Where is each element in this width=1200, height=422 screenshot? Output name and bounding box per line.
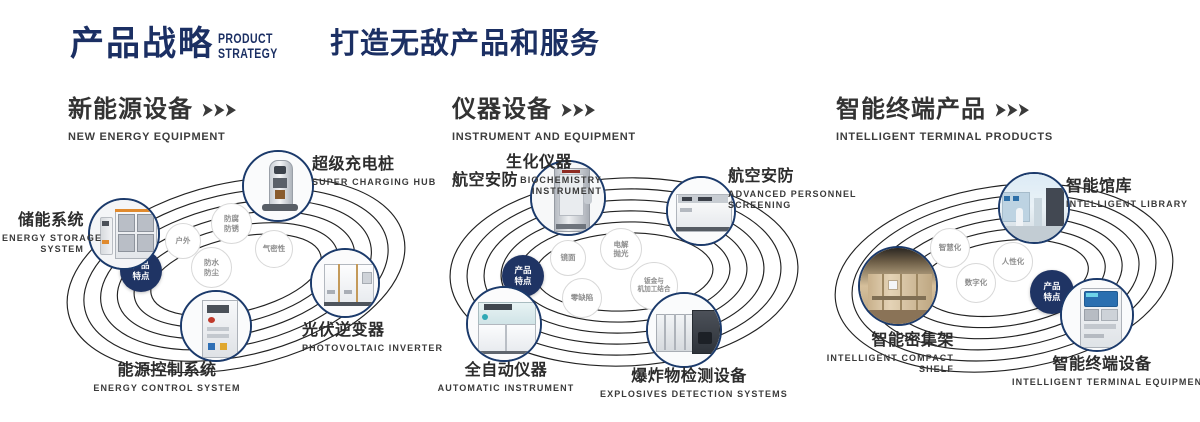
core-badge-l2: 特点 — [1043, 292, 1060, 302]
page-title-en-line1: PRODUCT — [218, 31, 282, 46]
feature-label: 零缺陷 — [571, 293, 594, 302]
core-badge-label: 产品 特点 — [1043, 281, 1060, 302]
node-label-en-l2: SHELF — [794, 364, 954, 375]
node-energy-control-system[interactable] — [180, 290, 252, 362]
feature-label: 钣金与 机加工结合 — [638, 278, 671, 294]
node-label-cn: 智能终端设备 — [1012, 356, 1192, 374]
node-label-en: INTELLIGENT COMPACT SHELF — [794, 353, 954, 376]
section-title-cn: 仪器设备 — [452, 98, 552, 122]
node-label-en-l2: INSTRUMENT — [506, 186, 602, 197]
feature-label: 数字化 — [965, 278, 988, 287]
feature-bubble-2: 电解 抛光 — [600, 228, 642, 270]
label-energy-control-system: 能源控制系统 ENERGY CONTROL SYSTEM — [82, 362, 252, 394]
node-label-en-l1: AUTOMATIC INSTRUMENT — [422, 383, 590, 394]
node-advanced-personnel-screening[interactable] — [666, 176, 736, 246]
feature-label-l1: 钣金与 — [644, 278, 664, 285]
section-title-en: INSTRUMENT AND EQUIPMENT — [452, 131, 636, 143]
section-title-intelligent-terminal: 智能终端产品➤➤➤ INTELLIGENT TERMINAL PRODUCTS — [836, 98, 1053, 143]
node-label-en-l1: EXPLOSIVES DETECTION SYSTEMS — [600, 389, 778, 400]
section-title-cn: 新能源设备 — [68, 98, 193, 122]
section-title-instrument: 仪器设备➤➤➤ INSTRUMENT AND EQUIPMENT — [452, 98, 636, 143]
feature-bubble-1: 镜面 — [550, 240, 586, 276]
node-label-en: INTELLIGENT TERMINAL EQUIPMENT — [1012, 377, 1192, 388]
label-intelligent-terminal-equipment: 智能终端设备 INTELLIGENT TERMINAL EQUIPMENT — [1012, 356, 1192, 388]
label-aviation-security-left: 航空安防 — [408, 172, 518, 190]
label-intelligent-library: 智能馆库 INTELLIGENT LIBRARY — [1066, 178, 1200, 210]
feature-label-l2: 防尘 — [204, 268, 219, 277]
feature-label-l2: 机加工结合 — [638, 286, 671, 293]
label-explosives-detection-systems: 爆炸物检测设备 EXPLOSIVES DETECTION SYSTEMS — [600, 368, 778, 400]
node-label-en-l1: INTELLIGENT LIBRARY — [1066, 199, 1200, 210]
chevron-right-icon: ➤➤➤ — [994, 98, 1029, 122]
node-label-cn: 能源控制系统 — [82, 362, 252, 380]
feature-label-l1: 电解 — [614, 240, 629, 249]
feature-bubble-2: 数字化 — [956, 263, 996, 303]
page-title-english: PRODUCT STRATEGY — [218, 31, 282, 61]
page-subtitle: 打造无敌产品和服务 — [330, 30, 600, 59]
node-automatic-instrument[interactable] — [466, 286, 542, 362]
node-label-en-l1: ENERGY STORAGE — [2, 233, 84, 244]
label-intelligent-compact-shelf: 智能密集架 INTELLIGENT COMPACT SHELF — [794, 332, 954, 375]
node-label-en-l1: ENERGY CONTROL SYSTEM — [82, 383, 252, 394]
node-explosives-detection-systems[interactable] — [646, 292, 722, 368]
feature-bubble-1: 智慧化 — [930, 228, 970, 268]
node-label-cn: 储能系统 — [2, 212, 84, 230]
feature-bubble-4: 气密性 — [255, 230, 293, 268]
chevron-right-icon: ➤➤➤ — [560, 98, 595, 122]
node-label-en: EXPLOSIVES DETECTION SYSTEMS — [600, 389, 778, 400]
core-badge-label: 产品 特点 — [514, 265, 531, 286]
core-badge-l2: 特点 — [514, 276, 531, 286]
feature-label: 智慧化 — [939, 243, 962, 252]
core-badge-l1: 产品 — [514, 265, 531, 275]
feature-label: 户外 — [176, 236, 191, 245]
section-title-en: NEW ENERGY EQUIPMENT — [68, 131, 236, 143]
node-label-en: ENERGY CONTROL SYSTEM — [82, 383, 252, 394]
node-label-en: BIOCHEMISTRY INSTRUMENT — [506, 175, 602, 198]
feature-label-l1: 防水 — [204, 258, 219, 267]
feature-label-l2: 防锈 — [224, 224, 239, 233]
node-label-cn: 爆炸物检测设备 — [600, 368, 778, 386]
feature-bubble-3: 防水 防尘 — [191, 247, 232, 288]
feature-label: 人性化 — [1002, 257, 1025, 266]
feature-label: 镜面 — [561, 253, 576, 262]
node-label-en-l1: INTELLIGENT TERMINAL EQUIPMENT — [1012, 377, 1192, 388]
feature-label: 气密性 — [263, 244, 286, 253]
core-badge-l2: 特点 — [132, 271, 149, 281]
feature-label-l1: 防腐 — [224, 214, 239, 223]
chevron-right-icon: ➤➤➤ — [201, 98, 236, 122]
node-label-cn: 智能馆库 — [1066, 178, 1200, 196]
diagram-instrument: 镜面 电解 抛光 零缺陷 钣金与 机加工结合 产品 特点 航空安防 — [428, 150, 828, 420]
section-title-cn: 智能终端产品 — [836, 98, 986, 122]
feature-label: 防水 防尘 — [204, 258, 219, 277]
section-title-en: INTELLIGENT TERMINAL PRODUCTS — [836, 131, 1053, 143]
diagram-intelligent-terminal: 智慧化 数字化 人性化 产品 特点 — [808, 150, 1200, 420]
node-label-cn: 智能密集架 — [794, 332, 954, 350]
page-title: 产品战略 — [70, 27, 214, 61]
node-intelligent-compact-shelf[interactable] — [858, 246, 938, 326]
diagram-new-energy: 户外 防腐 防锈 防水 防尘 气密性 产品 特点 — [40, 150, 440, 420]
core-badge-l1: 产品 — [1043, 281, 1060, 291]
label-biochemistry-instrument: 生化仪器 BIOCHEMISTRY INSTRUMENT — [506, 154, 626, 197]
section-title-new-energy: 新能源设备➤➤➤ NEW ENERGY EQUIPMENT — [68, 98, 236, 143]
node-label-cn: 生化仪器 — [506, 154, 626, 172]
node-label-en: ENERGY STORAGE SYSTEM — [2, 233, 84, 256]
node-label-en: AUTOMATIC INSTRUMENT — [422, 383, 590, 394]
header: 产品战略 PRODUCT STRATEGY 打造无敌产品和服务 — [0, 0, 1200, 88]
feature-bubble-3: 人性化 — [993, 242, 1033, 282]
feature-bubble-3: 零缺陷 — [562, 278, 602, 318]
node-intelligent-terminal-equipment[interactable] — [1060, 278, 1134, 352]
feature-label: 电解 抛光 — [614, 240, 629, 259]
node-photovoltaic-inverter[interactable] — [310, 248, 380, 318]
node-label-en-l2: SYSTEM — [2, 244, 84, 255]
product-strategy-infographic: 产品战略 PRODUCT STRATEGY 打造无敌产品和服务 新能源设备➤➤➤… — [0, 0, 1200, 422]
page-title-en-line2: STRATEGY — [218, 46, 282, 61]
node-label-cn: 超级充电桩 — [312, 156, 442, 174]
node-super-charging-hub[interactable] — [242, 150, 314, 222]
node-label-en-l1: INTELLIGENT COMPACT — [794, 353, 954, 364]
node-label-en-l1: BIOCHEMISTRY — [506, 175, 602, 186]
label-automatic-instrument: 全自动仪器 AUTOMATIC INSTRUMENT — [422, 362, 590, 394]
label-energy-storage-system: 储能系统 ENERGY STORAGE SYSTEM — [2, 212, 84, 255]
node-label-cn: 航空安防 — [408, 172, 518, 190]
feature-label: 防腐 防锈 — [224, 214, 239, 233]
node-intelligent-library[interactable] — [998, 172, 1070, 244]
node-label-en: INTELLIGENT LIBRARY — [1066, 199, 1200, 210]
node-label-cn: 全自动仪器 — [422, 362, 590, 380]
feature-label-l2: 抛光 — [614, 249, 629, 258]
